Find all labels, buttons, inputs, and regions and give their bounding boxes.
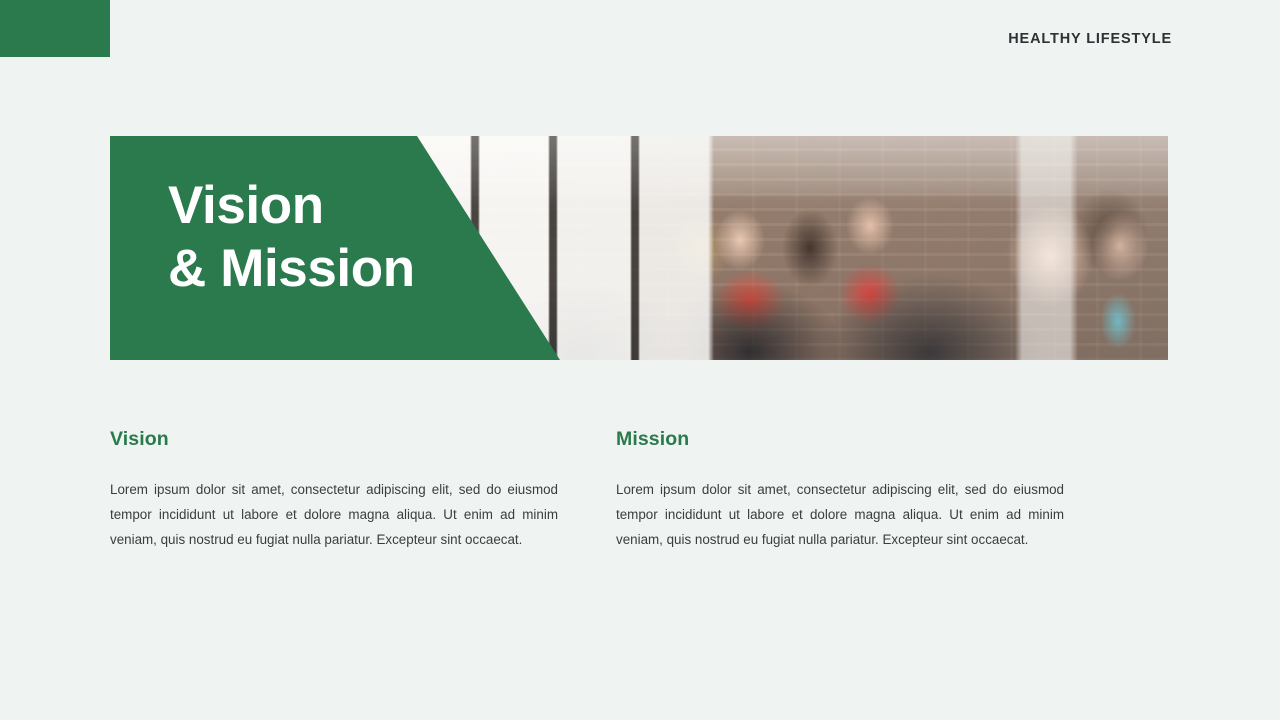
- vision-heading: Vision: [110, 428, 558, 451]
- mission-body-text: Lorem ipsum dolor sit amet, consectetur …: [616, 477, 1064, 552]
- vision-column: Vision Lorem ipsum dolor sit amet, conse…: [110, 428, 558, 552]
- corner-accent-block: [0, 0, 110, 57]
- mission-heading: Mission: [616, 428, 1064, 451]
- page-title: HEALTHY LIFESTYLE: [1008, 31, 1172, 47]
- hero-banner: Vision & Mission: [110, 136, 1168, 360]
- hero-title: Vision & Mission: [168, 175, 415, 300]
- slide: HEALTHY LIFESTYLE Vision & Mission Visio…: [0, 0, 1280, 720]
- vision-body-text: Lorem ipsum dolor sit amet, consectetur …: [110, 477, 558, 552]
- content-columns: Vision Lorem ipsum dolor sit amet, conse…: [110, 428, 1172, 552]
- mission-column: Mission Lorem ipsum dolor sit amet, cons…: [616, 428, 1064, 552]
